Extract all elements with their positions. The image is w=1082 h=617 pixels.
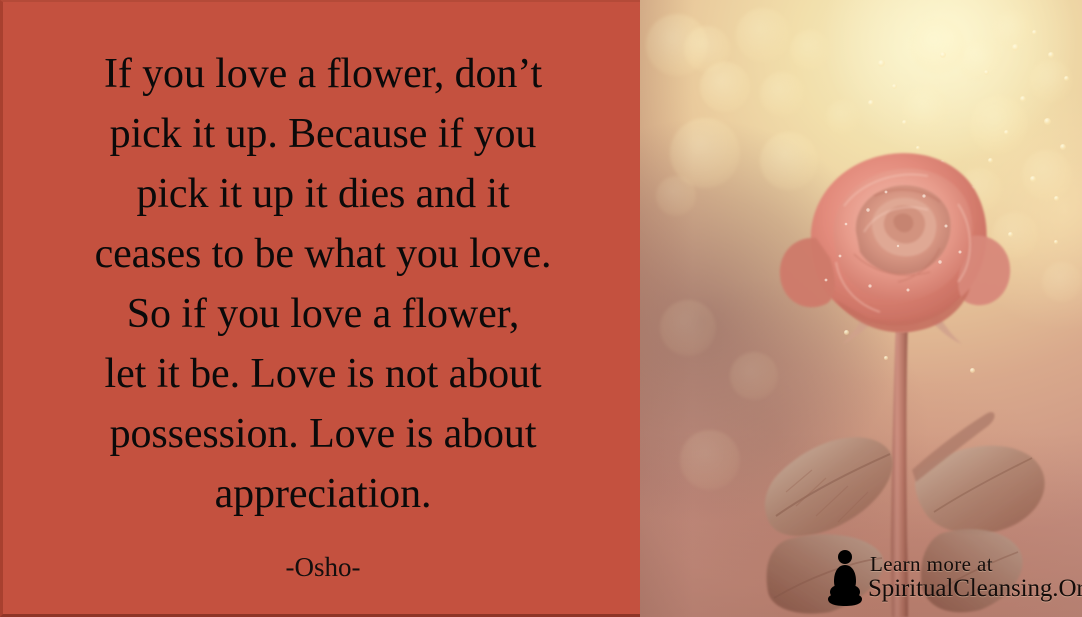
quote-line: appreciation. xyxy=(17,464,629,524)
watermark-line-2: SpiritualCleansing.Org xyxy=(868,576,1082,602)
quote-line: ceases to be what you love. xyxy=(17,224,629,284)
quote-line: pick it up it dies and it xyxy=(17,164,629,224)
quote-attribution: -Osho- xyxy=(17,550,629,584)
quote-line: pick it up. Because if you xyxy=(17,104,629,164)
quote-line: So if you love a flower, xyxy=(17,284,629,344)
photo-vignette xyxy=(640,0,1082,617)
quote-image-canvas: If you love a flower, don’t pick it up. … xyxy=(0,0,1082,617)
watermark-text: Learn more at SpiritualCleansing.Org xyxy=(868,554,1082,602)
quote-panel: If you love a flower, don’t pick it up. … xyxy=(0,0,640,617)
quote-line: let it be. Love is not about xyxy=(17,344,629,404)
watermark[interactable]: Learn more at SpiritualCleansing.Org xyxy=(828,548,1082,608)
watermark-line-1: Learn more at xyxy=(868,554,1082,576)
quote-line: If you love a flower, don’t xyxy=(17,44,629,104)
photo-panel: Learn more at SpiritualCleansing.Org xyxy=(640,0,1082,617)
meditating-figure-icon xyxy=(828,548,862,608)
quote-line: possession. Love is about xyxy=(17,404,629,464)
quote-text-block: If you love a flower, don’t pick it up. … xyxy=(17,44,629,524)
